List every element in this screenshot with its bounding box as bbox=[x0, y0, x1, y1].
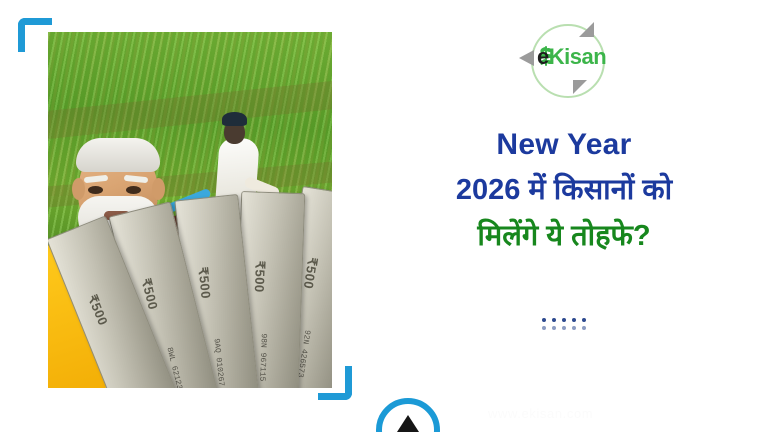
hero-photo: ₹500 24N 194270 ₹500 92N 426573 ₹500 98N… bbox=[48, 32, 332, 388]
modi-ear bbox=[72, 178, 85, 200]
headline-block: New Year 2026 में किसानों को मिलेंगे ये … bbox=[392, 126, 736, 255]
ornament-dot bbox=[572, 318, 576, 322]
corner-bracket-top-left bbox=[18, 18, 52, 52]
logo-pointer-w-icon bbox=[519, 50, 534, 66]
rupee-notes-fan: ₹500 24N 194270 ₹500 92N 426573 ₹500 98N… bbox=[147, 188, 332, 388]
ornament-dot bbox=[552, 326, 556, 330]
logo-wordmark-e: e bbox=[537, 44, 549, 69]
ornament-dot bbox=[562, 326, 566, 330]
farmer-cap bbox=[222, 112, 247, 126]
modi-eye bbox=[88, 186, 103, 194]
headline-line-3: मिलेंगे ये तोहफे? bbox=[392, 218, 736, 255]
ornament-dot bbox=[542, 318, 546, 322]
note-denomination: ₹500 bbox=[251, 260, 268, 293]
site-watermark: www.ekisan.com bbox=[488, 406, 593, 421]
dot-grid-ornament bbox=[540, 318, 588, 332]
play-button[interactable] bbox=[376, 398, 440, 432]
play-triangle-icon bbox=[397, 415, 419, 432]
note-denomination: ₹500 bbox=[194, 266, 213, 299]
headline-line-1: New Year bbox=[392, 126, 736, 164]
ekisan-logo[interactable]: eKisan bbox=[517, 20, 613, 100]
ornament-dot bbox=[562, 318, 566, 322]
ornament-dot bbox=[582, 318, 586, 322]
ornament-dot bbox=[552, 318, 556, 322]
ornament-dot bbox=[582, 326, 586, 330]
ornament-dot bbox=[542, 326, 546, 330]
ornament-dot bbox=[572, 326, 576, 330]
headline-line-2: 2026 में किसानों को bbox=[392, 172, 736, 209]
modi-eye bbox=[126, 186, 141, 194]
poster-canvas: ₹500 24N 194270 ₹500 92N 426573 ₹500 98N… bbox=[0, 0, 768, 432]
hero-photo-inner: ₹500 24N 194270 ₹500 92N 426573 ₹500 98N… bbox=[48, 32, 332, 388]
modi-hair bbox=[76, 138, 160, 172]
note-serial: 98N 967115 bbox=[257, 333, 268, 381]
logo-wordmark: eKisan bbox=[537, 46, 606, 68]
logo-wordmark-kisan: Kisan bbox=[549, 44, 606, 69]
logo-pointer-se-icon bbox=[573, 80, 587, 94]
logo-pointer-ne-icon bbox=[579, 22, 594, 37]
